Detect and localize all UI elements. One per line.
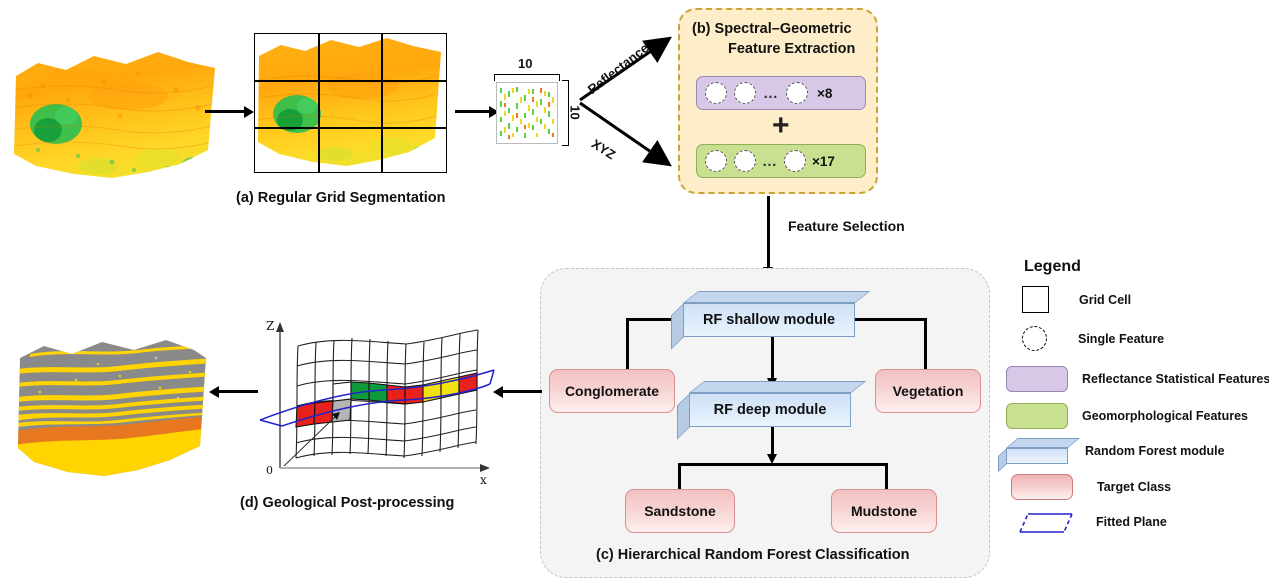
connector-to-sandstone <box>678 463 681 491</box>
reflectance-bar-multiplier: ×8 <box>817 86 832 101</box>
reflectance-feature-bar: … ×8 <box>696 76 866 110</box>
axis-label-x: x <box>480 473 487 487</box>
class-box-sandstone[interactable]: Sandstone <box>625 489 735 533</box>
rf-shallow-module-box[interactable]: RF shallow module <box>683 291 855 337</box>
class-box-conglomerate[interactable]: Conglomerate <box>549 369 675 413</box>
grid-line-horizontal-2 <box>255 127 446 129</box>
rf-shallow-module-label: RF shallow module <box>703 312 835 328</box>
axis-label-z: Z <box>266 319 274 333</box>
blue-3d-box-top <box>1006 438 1080 448</box>
classified-point-cloud <box>10 328 215 488</box>
rf-deep-top-face <box>689 381 866 393</box>
legend-label-single-feature: Single Feature <box>1078 332 1164 346</box>
legend-item-fitted-plane: Fitted Plane <box>1006 510 1167 534</box>
rf-shallow-top-face <box>683 291 870 303</box>
pink-rounded-box-icon <box>1011 474 1073 500</box>
single-feature-circle-icon <box>734 150 756 172</box>
panel-a-caption: (a) Regular Grid Segmentation <box>236 190 445 206</box>
arrow-feature-selection <box>767 196 770 268</box>
blue-3d-box-icon <box>1002 438 1072 464</box>
single-feature-circle-icon <box>734 82 756 104</box>
grid-segmentation-frame <box>254 33 447 173</box>
plus-operator: + <box>772 111 790 141</box>
blue-3d-box-front <box>1006 448 1068 464</box>
feature-patch <box>496 82 558 144</box>
single-feature-circle-icon <box>705 82 727 104</box>
green-bar-icon <box>1006 403 1068 429</box>
legend-item-random-forest-module: Random Forest module <box>1002 438 1225 464</box>
legend-panel: Legend Grid Cell Single Feature Reflecta… <box>1002 258 1267 528</box>
arrow-shallow-to-deep <box>771 337 774 379</box>
legend-title: Legend <box>1024 258 1081 276</box>
connector-to-vegetation <box>924 318 927 369</box>
patch-width-label: 10 <box>518 56 532 71</box>
connector-to-conglomerate <box>626 318 629 369</box>
arrow-grid-to-patch <box>455 110 490 113</box>
panel-c-caption: (c) Hierarchical Random Forest Classific… <box>596 547 909 563</box>
legend-label-grid-cell: Grid Cell <box>1079 293 1131 307</box>
panel-b-caption-line1: (b) Spectral–Geometric <box>692 21 852 37</box>
grid-line-vertical-1 <box>318 34 320 172</box>
connector-to-mudstone <box>885 463 888 491</box>
source-point-cloud <box>8 38 223 188</box>
rf-deep-module-label: RF deep module <box>714 402 827 418</box>
legend-item-reflectance-features: Reflectance Statistical Features <box>1006 366 1269 392</box>
reflectance-bar-ellipsis: … <box>763 85 779 102</box>
rf-deep-module-box[interactable]: RF deep module <box>689 381 851 427</box>
legend-item-target-class: Target Class <box>1011 474 1171 500</box>
blue-parallelogram-icon <box>1006 510 1078 534</box>
feature-selection-label: Feature Selection <box>788 218 905 234</box>
panel-b-caption-line2: Feature Extraction <box>728 41 855 57</box>
patch-width-brace <box>494 74 560 81</box>
single-feature-circle-icon <box>784 150 806 172</box>
panel-d-grid-diagram: Z x 0 <box>252 308 502 488</box>
legend-label-geomorphological-features: Geomorphological Features <box>1082 409 1248 423</box>
panel-b-spectral-geometric: (b) Spectral–Geometric Feature Extractio… <box>678 8 878 194</box>
legend-label-reflectance-features: Reflectance Statistical Features <box>1082 372 1269 386</box>
grid-line-vertical-2 <box>381 34 383 172</box>
arrow-c-to-d <box>502 390 542 393</box>
single-feature-circle-icon <box>705 150 727 172</box>
legend-label-random-forest-module: Random Forest module <box>1085 444 1225 458</box>
legend-label-target-class: Target Class <box>1097 480 1171 494</box>
legend-label-fitted-plane: Fitted Plane <box>1096 515 1167 529</box>
geomorph-bar-multiplier: ×17 <box>812 154 835 169</box>
legend-item-geomorphological-features: Geomorphological Features <box>1006 403 1248 429</box>
rf-shallow-front-face: RF shallow module <box>683 303 855 337</box>
purple-bar-icon <box>1006 366 1068 392</box>
connector-split-horizontal <box>678 463 887 466</box>
dashed-circle-icon <box>1022 326 1047 351</box>
class-box-mudstone[interactable]: Mudstone <box>831 489 937 533</box>
arrow-deep-to-split <box>771 427 774 455</box>
panel-c-hierarchical-rf: RF shallow module RF deep module Conglom… <box>540 268 990 578</box>
single-feature-circle-icon <box>786 82 808 104</box>
branch-arrows <box>575 25 685 175</box>
arrow-cloud-to-grid <box>205 110 245 113</box>
geomorphological-feature-bar: … ×17 <box>696 144 866 178</box>
class-box-vegetation[interactable]: Vegetation <box>875 369 981 413</box>
axis-origin-label: 0 <box>266 464 273 477</box>
geomorph-bar-ellipsis: … <box>762 153 778 170</box>
legend-item-grid-cell: Grid Cell <box>1022 286 1131 313</box>
grid-line-horizontal-1 <box>255 80 446 82</box>
panel-d-caption: (d) Geological Post-processing <box>240 495 454 511</box>
square-outline-icon <box>1022 286 1049 313</box>
rf-deep-front-face: RF deep module <box>689 393 851 427</box>
legend-item-single-feature: Single Feature <box>1022 326 1164 351</box>
